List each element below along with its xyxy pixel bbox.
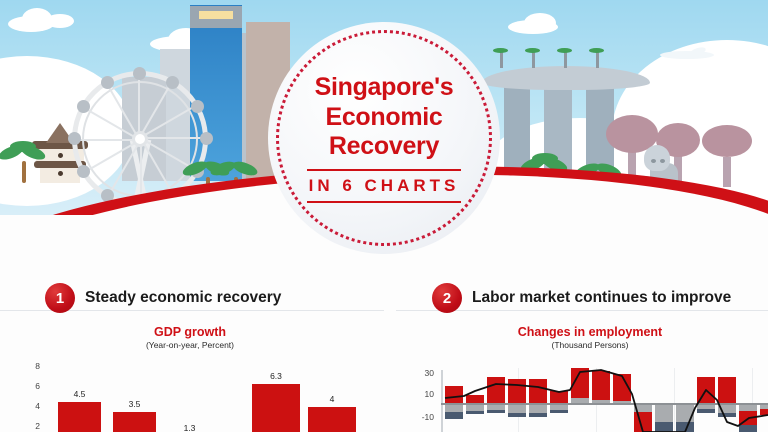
title-divider-bottom <box>307 201 461 203</box>
gdp-bar-label-2022q1: 4 <box>308 394 356 404</box>
title-line-2: Economic <box>325 103 442 133</box>
section-1-header: 1 Steady economic recovery <box>45 283 281 313</box>
section-2-header: 2 Labor market continues to improve <box>432 283 731 313</box>
gdp-bar-label-2021q3: 1.3 <box>168 423 211 432</box>
gdp-bar-2021q1 <box>58 402 101 432</box>
section-1-number-badge: 1 <box>45 283 75 313</box>
gdp-bar-2021q4 <box>252 384 300 432</box>
title-divider-top <box>307 169 461 171</box>
gdp-bar-label-2021q2: 3.5 <box>113 399 156 409</box>
employment-total-line <box>400 360 768 432</box>
title-badge: Singapore's Economic Recovery IN 6 CHART… <box>268 22 500 254</box>
employment-chart-title-block: Changes in employment (Thousand Persons) <box>488 325 692 350</box>
section-2-heading: Labor market continues to improve <box>472 289 731 307</box>
building-yellow-sign <box>199 11 233 19</box>
title-subtitle: IN 6 CHARTS <box>309 176 460 196</box>
gdp-chart-title-block: GDP growth (Year-on-year, Percent) <box>100 325 280 350</box>
gdp-bar-2022q1 <box>308 407 356 432</box>
title-line-1: Singapore's <box>315 73 454 103</box>
employment-chart-subtitle: (Thousand Persons) <box>488 340 692 350</box>
gdp-bar-2021q2 <box>113 412 156 432</box>
mbs-skypark <box>482 66 650 90</box>
section-1-heading: Steady economic recovery <box>85 289 281 307</box>
gdp-ytick-8: 8 <box>18 361 40 371</box>
title-line-3: Recovery <box>329 132 439 162</box>
gdp-bar-label-2021q1: 4.5 <box>58 389 101 399</box>
gdp-bar-label-2021q4: 6.3 <box>252 371 300 381</box>
employment-chart-title: Changes in employment <box>488 325 692 339</box>
palm-tree-left-1 <box>2 141 46 183</box>
gdp-chart-title: GDP growth <box>100 325 280 339</box>
gdp-ytick-2: 2 <box>18 421 40 431</box>
changes-in-employment-chart: 30 10 -10 <box>400 360 768 432</box>
supertree-3 <box>700 125 754 187</box>
gdp-ytick-6: 6 <box>18 381 40 391</box>
gdp-growth-chart: 8 6 4 2 4.5 3.5 1.3 6.3 4 <box>0 355 390 432</box>
gdp-chart-subtitle: (Year-on-year, Percent) <box>100 340 280 350</box>
section-2-number-badge: 2 <box>432 283 462 313</box>
airplane-icon <box>660 48 714 60</box>
gdp-ytick-4: 4 <box>18 401 40 411</box>
